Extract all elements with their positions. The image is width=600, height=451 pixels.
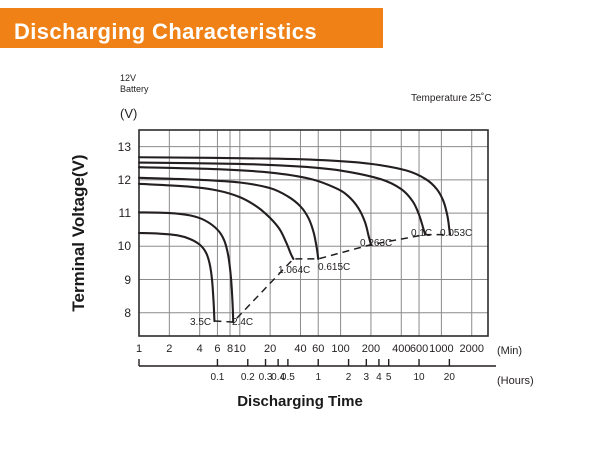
curve-label-0_1C: 0.1C [411, 228, 432, 239]
screenshot-root: Discharging Characteristics Terminal Vol… [0, 0, 600, 451]
battery-note: 12V Battery [120, 73, 149, 95]
curve-label-0_053C: 0.053C [440, 228, 472, 239]
x-tick-min-200: 200 [354, 343, 388, 355]
x-tick-min-10: 10 [223, 343, 257, 355]
chart-curves [139, 157, 450, 322]
y-tick-11: 11 [109, 206, 131, 220]
x-tick-min-100: 100 [324, 343, 358, 355]
curve-label-3_5C: 3.5C [190, 317, 211, 328]
x-axis-title: Discharging Time [0, 393, 600, 410]
x-tick-hr-5: 5 [375, 372, 403, 383]
curve-2_4C [139, 212, 233, 322]
header-bar: Discharging Characteristics [0, 8, 383, 48]
x-tick-hr-20: 20 [435, 372, 463, 383]
curve-label-2_4C: 2.4C [232, 317, 253, 328]
page-title: Discharging Characteristics [14, 21, 317, 43]
x-tick-hr-0_1: 0.1 [203, 372, 231, 383]
x-tick-hr-1: 1 [304, 372, 332, 383]
x-tick-min-20: 20 [253, 343, 287, 355]
battery-voltage-text: 12V [120, 73, 149, 84]
x-tick-min-1000: 1000 [424, 343, 458, 355]
x-tick-hr-0_5: 0.5 [274, 372, 302, 383]
temperature-note: Temperature 25˚C [411, 93, 492, 104]
x-tick-min-1: 1 [122, 343, 156, 355]
y-tick-13: 13 [109, 140, 131, 154]
voltage-unit-label: (V) [120, 106, 137, 121]
hours-unit-label: (Hours) [497, 375, 534, 387]
x-tick-min-2: 2 [152, 343, 186, 355]
x-tick-min-2000: 2000 [455, 343, 489, 355]
minutes-unit-label: (Min) [497, 345, 522, 357]
curve-label-0_615C: 0.615C [318, 262, 350, 273]
x-tick-hr-10: 10 [405, 372, 433, 383]
y-tick-10: 10 [109, 239, 131, 253]
y-tick-9: 9 [109, 273, 131, 287]
chart-cutoff-line [214, 235, 450, 322]
y-tick-8: 8 [109, 306, 131, 320]
battery-label-text: Battery [120, 84, 149, 95]
curve-label-1_064C: 1.064C [278, 265, 310, 276]
curve-label-0_263C: 0.263C [360, 238, 392, 249]
discharge-chart-svg [0, 48, 600, 451]
x-axis-minutes-line [139, 359, 496, 366]
y-axis-title: Terminal Voltage(V) [69, 128, 89, 338]
y-tick-12: 12 [109, 173, 131, 187]
chart-container: Terminal Voltage(V) 12V Battery (V) Temp… [0, 48, 600, 451]
